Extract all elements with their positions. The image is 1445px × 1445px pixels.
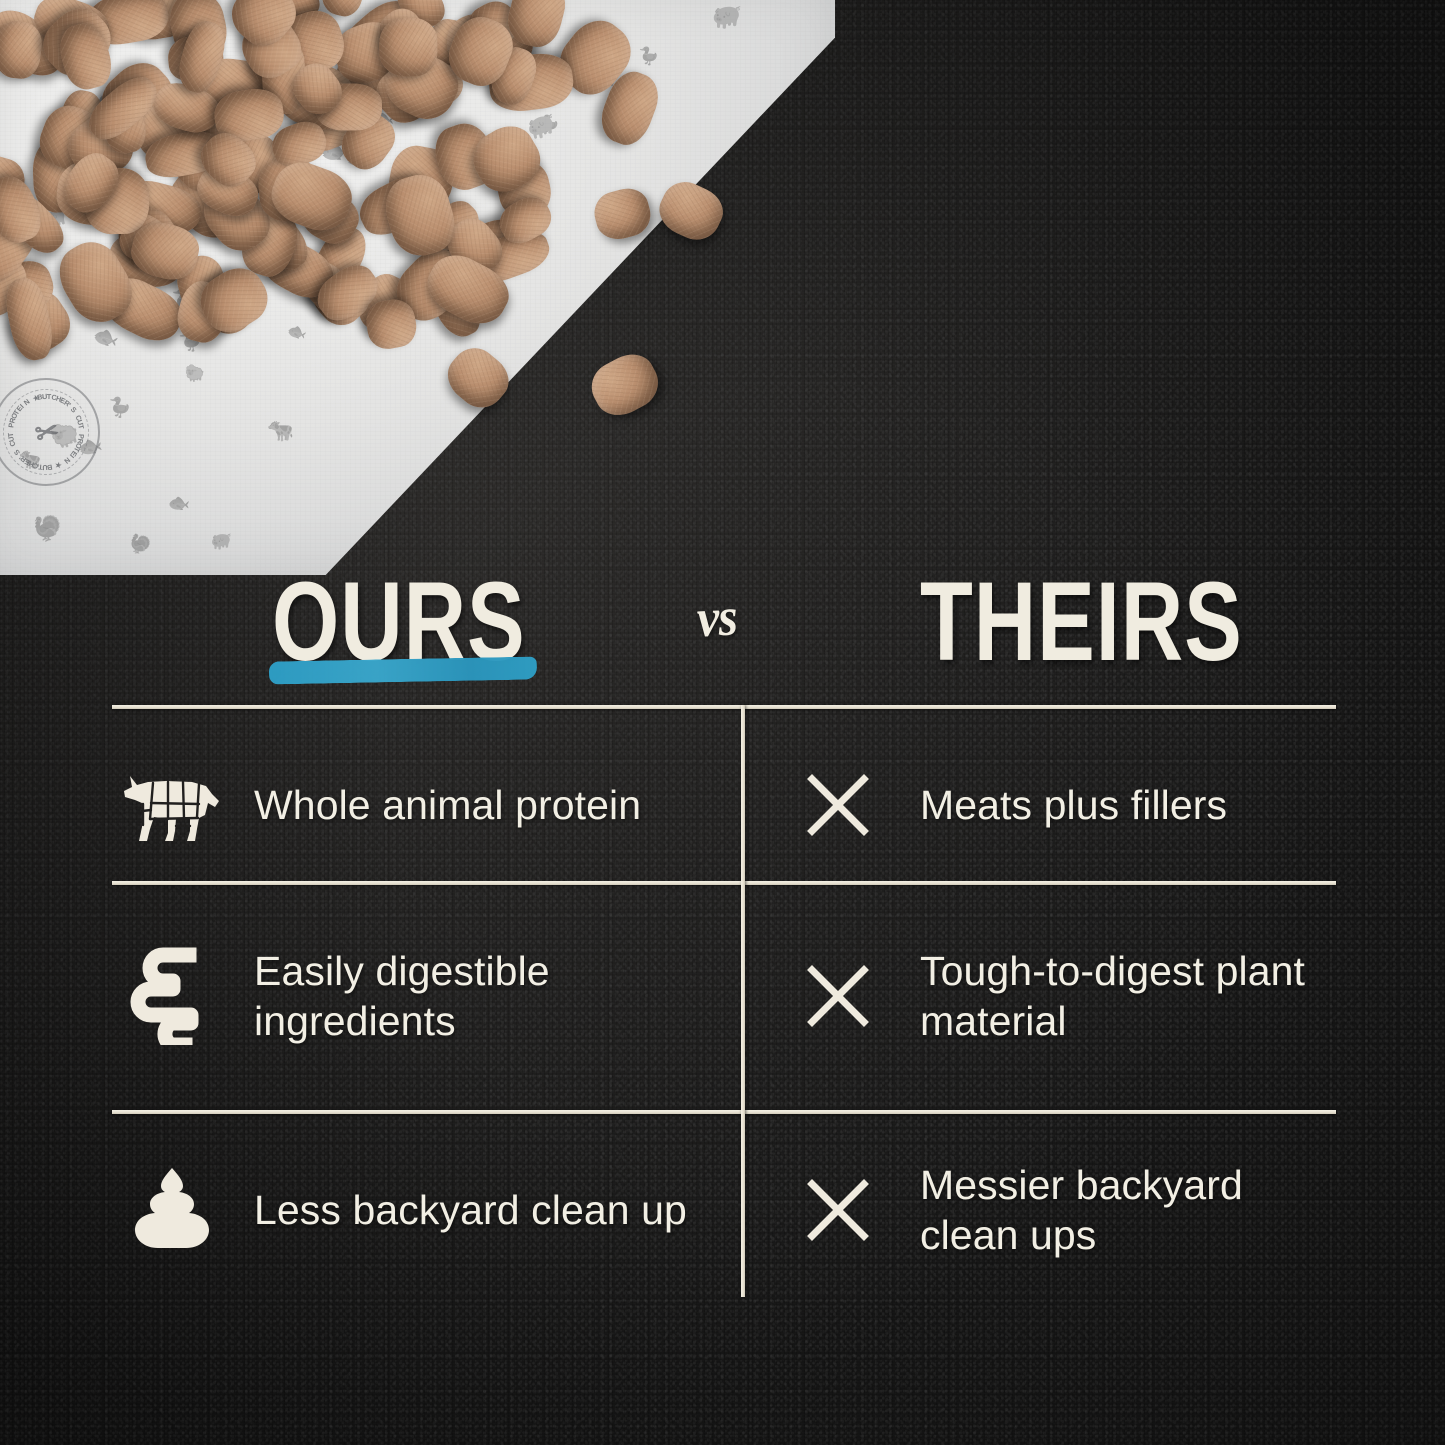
- paper-animal-glyph: 🐄: [267, 420, 295, 442]
- theirs-heading: THEIRS: [920, 566, 1243, 678]
- x-mark-icon: [786, 1178, 890, 1242]
- paper-animal-glyph: 🦃: [32, 517, 64, 544]
- paper-animal-glyph: 🐟: [168, 494, 191, 513]
- stool-icon: [120, 1164, 224, 1256]
- kibble-piece: [379, 17, 438, 77]
- table-divider-column: [741, 705, 745, 1297]
- table-row: Whole animal protein: [120, 729, 720, 881]
- table-divider-row-1: [112, 881, 1336, 885]
- ours-row-3-label: Less backyard clean up: [254, 1185, 687, 1235]
- ours-row-1-label: Whole animal protein: [254, 780, 641, 830]
- cow-butcher-cut-icon: [120, 763, 224, 847]
- paper-animal-glyph: 🦆: [107, 398, 132, 418]
- table-row: Tough-to-digest plant material: [786, 901, 1346, 1091]
- table-row: Less backyard clean up: [120, 1130, 720, 1290]
- table-row: Meats plus fillers: [786, 729, 1346, 881]
- paper-animal-glyph: 🦃: [127, 533, 153, 556]
- table-row: Easily digestible ingredients: [120, 901, 720, 1091]
- product-comparison-graphic: 🐄🦆🐟🐟🐄🐟🐟🐖🐟🐔🐟🦃🐄🦆🦆🐟🐑🐖🐟🦆🦃🐟🐔🦃🐖🐟🐖🦆🐑🦆🐖🐟🐑🐖 BUTCH…: [0, 0, 1445, 1445]
- product-photo: 🐄🦆🐟🐟🐄🐟🐟🐖🐟🐔🐟🦃🐄🦆🦆🐟🐑🐖🐟🦆🦃🐟🐔🦃🐖🐟🐖🦆🐑🦆🐖🐟🐑🐖 BUTCH…: [0, 0, 835, 575]
- paper-animal-glyph: 🐟: [285, 323, 309, 344]
- x-mark-icon: [786, 964, 890, 1028]
- theirs-row-3-label: Messier backyard clean ups: [920, 1160, 1346, 1260]
- x-mark-icon: [786, 773, 890, 837]
- paper-animal-glyph: 🐖: [211, 532, 233, 549]
- table-row: Messier backyard clean ups: [786, 1130, 1346, 1290]
- paper-animal-glyph: 🐖: [711, 6, 742, 31]
- table-divider-top: [112, 705, 1336, 709]
- ours-row-2-label: Easily digestible ingredients: [254, 946, 720, 1046]
- comparison-table: Whole animal protein Meats plus fillers: [112, 705, 1336, 1297]
- table-divider-row-2: [112, 1110, 1336, 1114]
- comparison-headings: OURS vs THEIRS: [112, 566, 1336, 691]
- paper-animal-glyph: 🐟: [90, 324, 121, 351]
- theirs-row-2-label: Tough-to-digest plant material: [920, 946, 1346, 1046]
- intestine-icon: [120, 947, 224, 1045]
- theirs-row-1-label: Meats plus fillers: [920, 780, 1227, 830]
- paper-animal-glyph: 🦆: [638, 48, 659, 65]
- versus-label: vs: [695, 585, 738, 650]
- paper-animal-glyph: 🐑: [184, 366, 205, 383]
